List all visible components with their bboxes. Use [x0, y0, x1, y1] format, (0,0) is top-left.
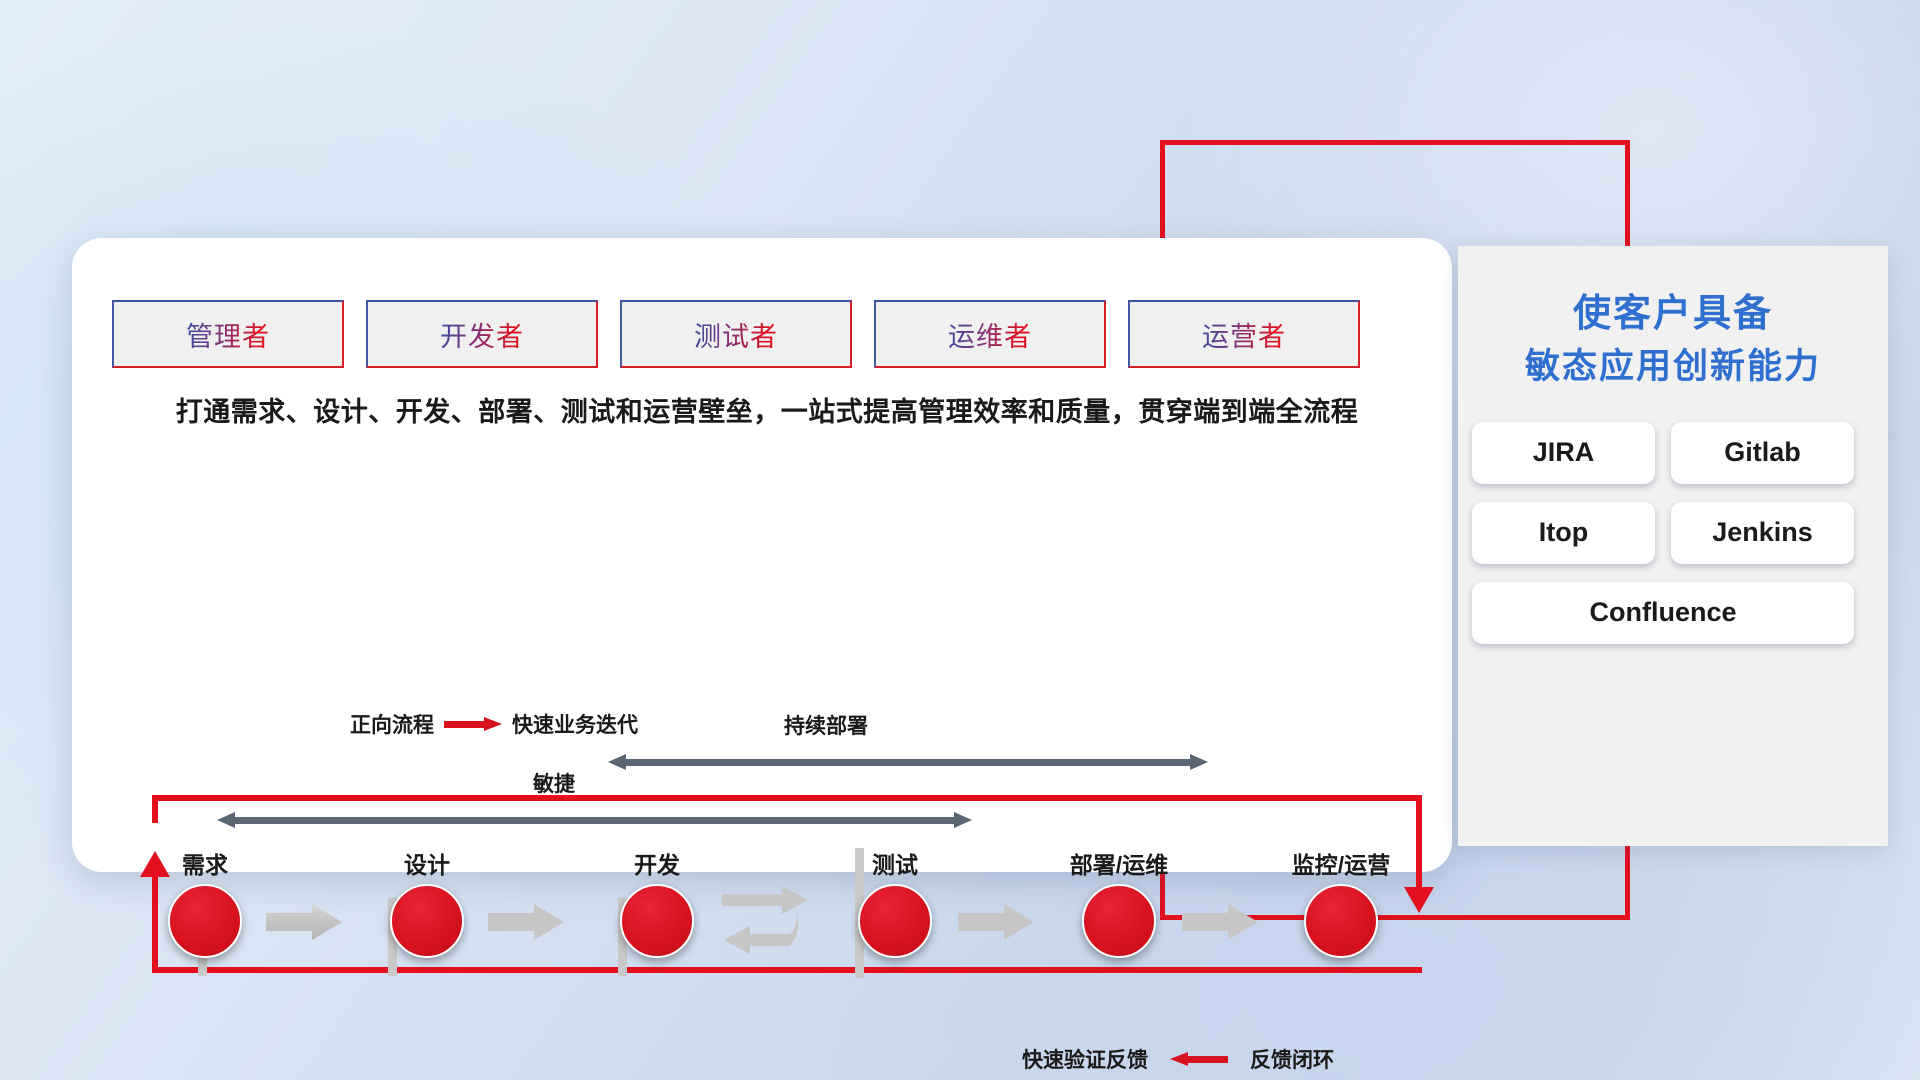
- tool-chip-jira[interactable]: JIRA: [1472, 422, 1655, 484]
- tool-chip-jenkins[interactable]: Jenkins: [1671, 502, 1854, 564]
- node-circle-icon: [390, 884, 464, 958]
- value-panel: 使客户具备 敏态应用创新能力 JIRA Gitlab Itop Jenkins …: [1458, 246, 1888, 846]
- role-box-developer[interactable]: 开发者: [366, 300, 598, 368]
- tool-label: Gitlab: [1724, 437, 1801, 468]
- cycle-left-segment: [152, 875, 158, 973]
- arrow-right-icon: [266, 902, 342, 942]
- node-label: 测试: [872, 846, 918, 880]
- headline-text: 打通需求、设计、开发、部署、测试和运营壁垒，一站式提高管理效率和质量，贯穿端到端…: [122, 390, 1412, 429]
- tool-chip-gitlab[interactable]: Gitlab: [1671, 422, 1854, 484]
- forward-flow-from-label: 正向流程: [350, 709, 434, 739]
- cycle-arrow-up-icon: [140, 851, 170, 877]
- main-diagram-card: 管理者 开发者 测试者 运维者 运营者 打通需求、设计、开发、部署、测试和运营壁…: [72, 238, 1452, 872]
- agile-label: 敏捷: [533, 768, 575, 798]
- cycle-top-segment: [152, 795, 1422, 801]
- devops-pipeline: 需求 设计 开发: [168, 850, 1458, 970]
- forward-flow-to-label: 快速业务迭代: [512, 709, 638, 739]
- feedback-from-label: 反馈闭环: [1250, 1044, 1334, 1074]
- node-label: 监控/运营: [1292, 846, 1390, 880]
- node-circle-icon: [1082, 884, 1156, 958]
- tool-chip-confluence[interactable]: Confluence: [1472, 582, 1854, 644]
- node-label: 设计: [404, 846, 450, 880]
- role-box-row: 管理者 开发者 测试者 运维者 运营者: [112, 300, 1360, 368]
- node-circle-icon: [1304, 884, 1378, 958]
- panel-title-line2: 敏态应用创新能力: [1458, 342, 1888, 392]
- tool-chip-list: JIRA Gitlab Itop Jenkins Confluence: [1472, 422, 1874, 644]
- pipeline-node-requirement[interactable]: 需求: [168, 884, 242, 958]
- arrow-shaft: [624, 759, 1192, 766]
- tool-label: JIRA: [1533, 437, 1595, 468]
- tool-label: Jenkins: [1712, 517, 1813, 548]
- role-box-manager[interactable]: 管理者: [112, 300, 344, 368]
- feedback-to-label: 快速验证反馈: [1022, 1044, 1148, 1074]
- pipeline-node-design[interactable]: 设计: [390, 884, 464, 958]
- role-label: 开发者: [440, 315, 524, 354]
- role-box-operations[interactable]: 运营者: [1128, 300, 1360, 368]
- loop-cycle-icon: [720, 886, 824, 956]
- panel-title: 使客户具备 敏态应用创新能力: [1458, 288, 1888, 392]
- role-box-ops[interactable]: 运维者: [874, 300, 1106, 368]
- pipeline-node-develop[interactable]: 开发: [620, 884, 694, 958]
- node-label: 需求: [182, 846, 228, 880]
- tool-label: Confluence: [1589, 597, 1736, 628]
- continuous-deployment-label: 持续部署: [784, 710, 868, 740]
- tool-chip-itop[interactable]: Itop: [1472, 502, 1655, 564]
- connector-top-segment: [1160, 140, 1630, 145]
- connector-loop: [720, 886, 824, 956]
- arrow-right-icon: [444, 717, 502, 731]
- node-circle-icon: [620, 884, 694, 958]
- role-box-tester[interactable]: 测试者: [620, 300, 852, 368]
- connector-arrow-5: [1182, 902, 1258, 942]
- pipeline-node-deploy-ops[interactable]: 部署/运维: [1082, 884, 1156, 958]
- slide-canvas: 管理者 开发者 测试者 运维者 运营者 打通需求、设计、开发、部署、测试和运营壁…: [0, 0, 1920, 1080]
- role-label: 运营者: [1202, 315, 1286, 354]
- arrow-head-right-icon: [1190, 754, 1208, 770]
- role-label: 运维者: [948, 315, 1032, 354]
- arrow-left-icon: [1170, 1052, 1228, 1066]
- role-label: 测试者: [694, 315, 778, 354]
- panel-title-line1: 使客户具备: [1458, 288, 1888, 342]
- forward-flow-legend: 正向流程 快速业务迭代: [350, 709, 638, 739]
- pipeline-node-test[interactable]: 测试: [858, 884, 932, 958]
- feedback-legend: 快速验证反馈 反馈闭环: [1022, 1044, 1334, 1074]
- role-label: 管理者: [186, 315, 270, 354]
- node-circle-icon: [168, 884, 242, 958]
- arrow-right-icon: [958, 902, 1034, 942]
- continuous-deployment-span-arrow: [608, 754, 1208, 770]
- tool-label: Itop: [1539, 517, 1588, 548]
- connector-arrow-1: [266, 902, 342, 942]
- cycle-left-stub: [152, 795, 158, 823]
- node-label: 开发: [634, 846, 680, 880]
- pipeline-node-monitor-operations[interactable]: 监控/运营: [1304, 884, 1378, 958]
- node-label: 部署/运维: [1070, 846, 1168, 880]
- arrow-right-icon: [1182, 902, 1258, 942]
- connector-arrow-4: [958, 902, 1034, 942]
- connector-arrow-2: [488, 902, 564, 942]
- arrow-right-icon: [488, 902, 564, 942]
- node-circle-icon: [858, 884, 932, 958]
